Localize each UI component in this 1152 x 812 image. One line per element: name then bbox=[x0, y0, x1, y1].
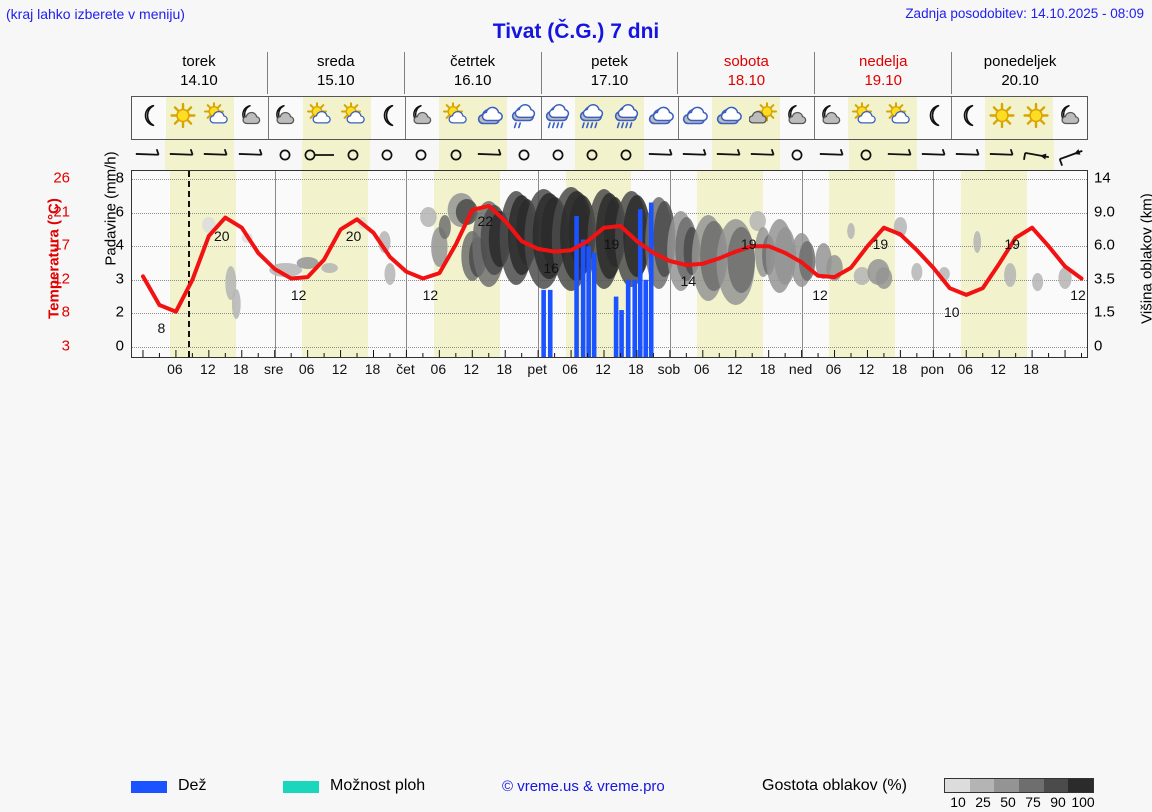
wind-barb-cell bbox=[268, 140, 302, 170]
precipitation-tick: 8 bbox=[96, 170, 124, 187]
sun-cloud-icon bbox=[203, 103, 231, 134]
rain-legend-swatch bbox=[131, 781, 167, 793]
weather-icon-cell bbox=[234, 97, 268, 139]
cloud-icon bbox=[647, 103, 675, 134]
day-name: četrtek bbox=[405, 52, 541, 71]
cloud-icon bbox=[681, 103, 709, 134]
cloud-rain-icon bbox=[613, 103, 641, 134]
cloud-ramp-step bbox=[970, 779, 995, 792]
day-header-sobota: sobota18.10 bbox=[677, 52, 814, 94]
meteogram-plot: 82012201222161914191219101912 bbox=[131, 170, 1088, 358]
cloud-ramp-step bbox=[1044, 779, 1069, 792]
x-tick-label: pet bbox=[527, 361, 546, 377]
day-date: 18.10 bbox=[678, 71, 814, 90]
weather-icon-cell bbox=[337, 97, 371, 139]
cloud-rain-icon bbox=[578, 103, 606, 134]
weather-icon-cell bbox=[882, 97, 916, 139]
day-header-nedelja: nedelja19.10 bbox=[814, 52, 951, 94]
x-tick-label: 18 bbox=[628, 361, 644, 377]
cloud-height-tick: 3.5 bbox=[1094, 270, 1134, 287]
x-tick-label: 12 bbox=[463, 361, 479, 377]
wind-barb-cell bbox=[746, 140, 780, 170]
precipitation-tick: 4 bbox=[96, 237, 124, 254]
weather-icon-cell bbox=[951, 97, 985, 139]
temperature-label: 19 bbox=[741, 236, 757, 252]
wind-barb-cell bbox=[541, 140, 575, 170]
wind-barb-cell bbox=[609, 140, 643, 170]
weather-icon-cell bbox=[473, 97, 507, 139]
chart-legend: Dež Možnost ploh © vreme.us & vreme.pro … bbox=[0, 388, 1152, 434]
moon-icon bbox=[921, 103, 947, 134]
sun-cloud-icon bbox=[306, 103, 334, 134]
x-tick-label: sob bbox=[658, 361, 681, 377]
cloud-height-tick: 9.0 bbox=[1094, 203, 1134, 220]
temperature-label: 22 bbox=[477, 213, 493, 229]
cloud-height-axis-title: Višina oblakov (km) bbox=[1139, 174, 1152, 344]
wind-barb-cell bbox=[1019, 140, 1053, 170]
temperature-label: 12 bbox=[812, 287, 828, 303]
wind-barb-cell bbox=[165, 140, 199, 170]
wind-barb-cell bbox=[883, 140, 917, 170]
cloud-density-ramp-labels: 1025507590100 bbox=[930, 794, 1110, 812]
cloud-height-tick: 6.0 bbox=[1094, 237, 1134, 254]
x-tick-label: pon bbox=[921, 361, 944, 377]
precipitation-tick: 3 bbox=[96, 270, 124, 287]
weather-icon-cell bbox=[1053, 97, 1087, 139]
weather-icon-cell bbox=[541, 97, 575, 139]
x-tick-label: 12 bbox=[595, 361, 611, 377]
x-tick-label: 18 bbox=[760, 361, 776, 377]
wind-barb-cell bbox=[780, 140, 814, 170]
moon-cloud-icon bbox=[1056, 103, 1084, 134]
x-tick-label: 18 bbox=[1023, 361, 1039, 377]
wind-barb-cell bbox=[1054, 140, 1088, 170]
wind-barb-cell bbox=[336, 140, 370, 170]
weather-icon-cell bbox=[985, 97, 1019, 139]
x-tick-label: 06 bbox=[957, 361, 973, 377]
cloud-height-tick: 1.5 bbox=[1094, 304, 1134, 321]
wind-barb-cell bbox=[951, 140, 985, 170]
weather-icon-cell bbox=[405, 97, 439, 139]
moon-cloud-icon bbox=[408, 103, 436, 134]
weather-icon-cell bbox=[746, 97, 780, 139]
day-separator bbox=[951, 97, 952, 139]
day-separator bbox=[405, 97, 406, 139]
weather-icon-cell bbox=[814, 97, 848, 139]
cloud-ramp-label: 50 bbox=[1000, 794, 1016, 810]
day-header-row: torek14.10sreda15.10četrtek16.10petek17.… bbox=[131, 52, 1088, 94]
cloud-density-color-ramp bbox=[944, 778, 1094, 793]
x-tick-label: 06 bbox=[694, 361, 710, 377]
wind-barb-cell bbox=[644, 140, 678, 170]
x-tick-label: 18 bbox=[233, 361, 249, 377]
day-name: ponedeljek bbox=[952, 52, 1088, 71]
wind-barb-cell bbox=[575, 140, 609, 170]
moon-cloud-icon bbox=[237, 103, 265, 134]
temperature-tick: 26 bbox=[36, 170, 70, 187]
cloud-ramp-step bbox=[1068, 779, 1093, 792]
weather-icon-cell bbox=[268, 97, 302, 139]
weather-icon-cell bbox=[132, 97, 166, 139]
x-tick-label: ned bbox=[789, 361, 812, 377]
temperature-label: 19 bbox=[1004, 236, 1020, 252]
temperature-label: 14 bbox=[681, 273, 697, 289]
precipitation-tick: 6 bbox=[96, 203, 124, 220]
cloud-ramp-label: 10 bbox=[950, 794, 966, 810]
x-tick-label: 18 bbox=[496, 361, 512, 377]
sun-icon bbox=[170, 103, 196, 134]
wind-barb-cell bbox=[985, 140, 1019, 170]
wind-barb-cell bbox=[199, 140, 233, 170]
x-tick-label: 06 bbox=[299, 361, 315, 377]
temperature-label: 16 bbox=[543, 260, 559, 276]
cloud-sun-icon bbox=[749, 103, 777, 134]
weather-icon-strip bbox=[131, 96, 1088, 140]
day-date: 19.10 bbox=[815, 71, 951, 90]
moon-cloud-icon bbox=[271, 103, 299, 134]
weather-icon-cell bbox=[917, 97, 951, 139]
day-name: petek bbox=[542, 52, 678, 71]
weather-icon-cell bbox=[439, 97, 473, 139]
day-separator bbox=[814, 97, 815, 139]
moon-cloud-icon bbox=[783, 103, 811, 134]
temperature-tick: 21 bbox=[36, 203, 70, 220]
copyright-link[interactable]: © vreme.us & vreme.pro bbox=[502, 778, 665, 795]
weather-icon-cell bbox=[371, 97, 405, 139]
day-header-ponedeljek: ponedeljek20.10 bbox=[951, 52, 1088, 94]
cloud-height-tick: 0 bbox=[1094, 338, 1134, 355]
temperature-label: 10 bbox=[944, 304, 960, 320]
weather-icon-cell bbox=[507, 97, 541, 139]
x-tick-label: 18 bbox=[365, 361, 381, 377]
day-date: 20.10 bbox=[952, 71, 1088, 90]
x-tick-label: 06 bbox=[431, 361, 447, 377]
day-separator bbox=[541, 97, 542, 139]
cloud-rain-light-icon bbox=[510, 103, 538, 134]
sun-cloud-icon bbox=[885, 103, 913, 134]
weather-icon-cell bbox=[780, 97, 814, 139]
day-name: sobota bbox=[678, 52, 814, 71]
weather-icon-cell bbox=[1019, 97, 1053, 139]
wind-barb-cell bbox=[473, 140, 507, 170]
temperature-tick: 3 bbox=[36, 338, 70, 355]
x-tick-label: 12 bbox=[727, 361, 743, 377]
cloud-ramp-label: 75 bbox=[1025, 794, 1041, 810]
wind-barb-cell bbox=[507, 140, 541, 170]
cloud-ramp-step bbox=[945, 779, 970, 792]
day-name: nedelja bbox=[815, 52, 951, 71]
last-update-stamp: Zadnja posodobitev: 14.10.2025 - 08:09 bbox=[905, 6, 1144, 21]
precipitation-tick: 2 bbox=[96, 304, 124, 321]
weather-icon-cell bbox=[712, 97, 746, 139]
day-separator bbox=[678, 97, 679, 139]
weather-icon-cell bbox=[610, 97, 644, 139]
wind-barb-cell bbox=[302, 140, 336, 170]
x-tick-label: 12 bbox=[200, 361, 216, 377]
x-tick-label: čet bbox=[396, 361, 415, 377]
page-title: Tivat (Č.G.) 7 dni bbox=[0, 20, 1152, 44]
day-header-sreda: sreda15.10 bbox=[267, 52, 404, 94]
rain-legend-label: Dež bbox=[178, 777, 206, 795]
day-date: 15.10 bbox=[268, 71, 404, 90]
wind-barb-cell bbox=[814, 140, 848, 170]
x-tick-label: 12 bbox=[859, 361, 875, 377]
precipitation-tick: 0 bbox=[96, 338, 124, 355]
cloud-density-legend-title: Gostota oblakov (%) bbox=[762, 777, 907, 795]
cloud-height-tick: 14 bbox=[1094, 170, 1134, 187]
showers-legend-label: Možnost ploh bbox=[330, 777, 425, 795]
temperature-label: 19 bbox=[604, 236, 620, 252]
x-tick-label: 18 bbox=[892, 361, 908, 377]
day-date: 14.10 bbox=[131, 71, 267, 90]
showers-legend-swatch bbox=[283, 781, 319, 793]
moon-cloud-icon bbox=[817, 103, 845, 134]
cloud-ramp-step bbox=[994, 779, 1019, 792]
temperature-label: 20 bbox=[214, 228, 230, 244]
x-tick-label: 12 bbox=[332, 361, 348, 377]
temperature-label: 12 bbox=[291, 287, 307, 303]
moon-icon bbox=[136, 103, 162, 134]
temperature-label: 19 bbox=[873, 236, 889, 252]
day-name: sreda bbox=[268, 52, 404, 71]
day-date: 16.10 bbox=[405, 71, 541, 90]
wind-barb-cell bbox=[131, 140, 165, 170]
moon-icon bbox=[375, 103, 401, 134]
wind-barb-cell bbox=[234, 140, 268, 170]
temperature-tick: 17 bbox=[36, 237, 70, 254]
wind-barb-cell bbox=[439, 140, 473, 170]
sun-icon bbox=[989, 103, 1015, 134]
day-separator bbox=[268, 97, 269, 139]
wind-barb-cell bbox=[678, 140, 712, 170]
wind-barb-cell bbox=[849, 140, 883, 170]
wind-barb-cell bbox=[917, 140, 951, 170]
temperature-tick: 12 bbox=[36, 270, 70, 287]
sun-cloud-icon bbox=[851, 103, 879, 134]
temperature-label: 12 bbox=[1070, 287, 1086, 303]
wind-barb-strip bbox=[131, 140, 1088, 170]
x-tick-label: 06 bbox=[826, 361, 842, 377]
weather-icon-cell bbox=[575, 97, 609, 139]
data-series-layer bbox=[132, 171, 1087, 357]
x-axis-tick-labels: 061218sre061218čet061218pet061218sob0612… bbox=[131, 360, 1088, 380]
sun-icon bbox=[1023, 103, 1049, 134]
cloud-ramp-step bbox=[1019, 779, 1044, 792]
temperature-label: 20 bbox=[346, 228, 362, 244]
weather-icon-cell bbox=[303, 97, 337, 139]
sun-cloud-icon bbox=[340, 103, 368, 134]
temperature-label: 12 bbox=[423, 287, 439, 303]
x-tick-label: 06 bbox=[562, 361, 578, 377]
cloud-icon bbox=[715, 103, 743, 134]
moon-icon bbox=[955, 103, 981, 134]
weather-icon-cell bbox=[200, 97, 234, 139]
cloud-ramp-label: 90 bbox=[1050, 794, 1066, 810]
temperature-tick: 8 bbox=[36, 304, 70, 321]
weather-icon-cell bbox=[678, 97, 712, 139]
weather-icon-cell bbox=[644, 97, 678, 139]
x-tick-label: sre bbox=[264, 361, 283, 377]
day-header-četrtek: četrtek16.10 bbox=[404, 52, 541, 94]
weather-icon-cell bbox=[848, 97, 882, 139]
weather-icon-cell bbox=[166, 97, 200, 139]
cloud-icon bbox=[476, 103, 504, 134]
x-tick-label: 06 bbox=[167, 361, 183, 377]
sun-cloud-icon bbox=[442, 103, 470, 134]
day-header-torek: torek14.10 bbox=[131, 52, 267, 94]
temperature-label: 8 bbox=[158, 320, 166, 336]
day-header-petek: petek17.10 bbox=[541, 52, 678, 94]
wind-barb-cell bbox=[404, 140, 438, 170]
wind-barb-cell bbox=[370, 140, 404, 170]
x-tick-label: 12 bbox=[990, 361, 1006, 377]
cloud-ramp-label: 100 bbox=[1071, 794, 1094, 810]
day-date: 17.10 bbox=[542, 71, 678, 90]
cloud-rain-icon bbox=[544, 103, 572, 134]
wind-barb-cell bbox=[712, 140, 746, 170]
day-name: torek bbox=[131, 52, 267, 71]
cloud-ramp-label: 25 bbox=[975, 794, 991, 810]
